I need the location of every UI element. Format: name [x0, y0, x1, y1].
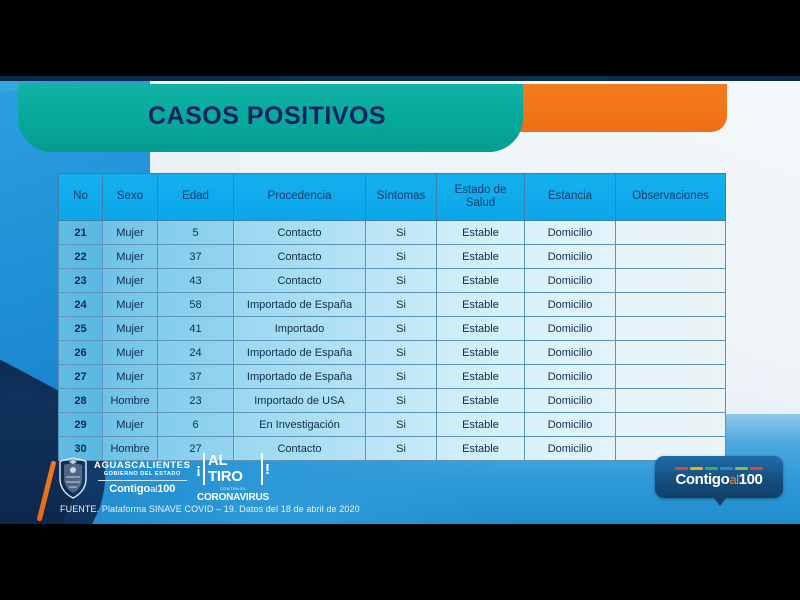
table-cell-estado-de-salud: Estable: [437, 341, 525, 365]
table-cell-no: 27: [59, 365, 103, 389]
table-cell-síntomas: Si: [366, 365, 437, 389]
table-cell-edad: 5: [158, 221, 234, 245]
table-cell-estancia: Domicilio: [525, 269, 616, 293]
table-cell-síntomas: Si: [366, 389, 437, 413]
table-cell-no: 23: [59, 269, 103, 293]
table-cell-observaciones: [616, 293, 726, 317]
header-orange-block: [505, 84, 727, 132]
table-cell-sexo: Mujer: [103, 245, 158, 269]
table-cell-estancia: Domicilio: [525, 389, 616, 413]
badge-color-bar: [735, 467, 748, 470]
badge-color-bar: [675, 467, 688, 470]
table-cell-síntomas: Si: [366, 317, 437, 341]
table-header-row: No Sexo Edad Procedencia Síntomas Estado…: [59, 174, 726, 221]
table-row: 22Mujer37ContactoSiEstableDomicilio: [59, 245, 726, 269]
coat-of-arms-icon: [58, 457, 88, 499]
badge-100-word: 100: [739, 471, 763, 488]
table-cell-estancia: Domicilio: [525, 413, 616, 437]
table-cell-síntomas: Si: [366, 437, 437, 461]
badge-color-bar: [750, 467, 763, 470]
table-cell-no: 25: [59, 317, 103, 341]
table-cell-edad: 41: [158, 317, 234, 341]
top-cyan-tab: [0, 81, 18, 91]
table-row: 24Mujer58Importado de EspañaSiEstableDom…: [59, 293, 726, 317]
table-cell-sexo: Mujer: [103, 221, 158, 245]
altiro-open-exclamation: ¡: [196, 461, 201, 478]
table-cell-síntomas: Si: [366, 413, 437, 437]
column-header-procedencia: Procedencia: [234, 174, 366, 221]
table-cell-estancia: Domicilio: [525, 365, 616, 389]
badge-color-bar: [720, 467, 733, 470]
altiro-word: AL TIRO: [203, 453, 263, 485]
aguascalientes-government-logo: AGUASCALIENTES GOBIERNO DEL ESTADO Conti…: [58, 454, 190, 502]
table-cell-estancia: Domicilio: [525, 293, 616, 317]
table-cell-síntomas: Si: [366, 221, 437, 245]
table-row: 26Mujer24Importado de EspañaSiEstableDom…: [59, 341, 726, 365]
table-cell-observaciones: [616, 269, 726, 293]
table-cell-edad: 23: [158, 389, 234, 413]
table-cell-observaciones: [616, 245, 726, 269]
table-cell-edad: 24: [158, 341, 234, 365]
presentation-slide: CASOS POSITIVOS No Sexo Edad Procedencia…: [0, 76, 800, 524]
column-header-edad: Edad: [158, 174, 234, 221]
table-cell-estancia: Domicilio: [525, 245, 616, 269]
table-row: 27Mujer37Importado de EspañaSiEstableDom…: [59, 365, 726, 389]
table-cell-sexo: Mujer: [103, 341, 158, 365]
table-cell-no: 22: [59, 245, 103, 269]
badge-al-word: al: [729, 472, 738, 487]
table-cell-procedencia: En Investigación: [234, 413, 366, 437]
table-cell-sexo: Mujer: [103, 365, 158, 389]
table-cell-observaciones: [616, 221, 726, 245]
badge-color-bar: [705, 467, 718, 470]
top-dark-strip: [0, 76, 800, 81]
table-cell-no: 29: [59, 413, 103, 437]
table-cell-sexo: Mujer: [103, 317, 158, 341]
table-cell-observaciones: [616, 341, 726, 365]
table-cell-procedencia: Contacto: [234, 221, 366, 245]
table-cell-estado-de-salud: Estable: [437, 437, 525, 461]
table-body: 21Mujer5ContactoSiEstableDomicilio22Muje…: [59, 221, 726, 461]
badge-label: Contigoal100: [675, 472, 762, 487]
table-cell-procedencia: Importado de España: [234, 341, 366, 365]
table-cell-estancia: Domicilio: [525, 437, 616, 461]
gob-line-contigo: Contigoal100: [109, 484, 175, 495]
column-header-estancia: Estancia: [525, 174, 616, 221]
altiro-top-row: ¡ AL TIRO !: [196, 453, 270, 485]
table-cell-edad: 37: [158, 365, 234, 389]
table-cell-síntomas: Si: [366, 245, 437, 269]
table-cell-procedencia: Importado de USA: [234, 389, 366, 413]
gob-line-gobierno: GOBIERNO DEL ESTADO: [104, 472, 181, 478]
altiro-subtitle: CONTRA EL: [220, 486, 246, 491]
table-cell-procedencia: Contacto: [234, 269, 366, 293]
table-cell-no: 24: [59, 293, 103, 317]
table-row: 29Mujer6En InvestigaciónSiEstableDomicil…: [59, 413, 726, 437]
table-cell-estado-de-salud: Estable: [437, 221, 525, 245]
table-cell-síntomas: Si: [366, 293, 437, 317]
contigo-al-100-badge: Contigoal100: [655, 456, 783, 498]
cases-table-container: No Sexo Edad Procedencia Síntomas Estado…: [58, 173, 725, 461]
altiro-close-exclamation: !: [265, 461, 270, 478]
table-cell-sexo: Mujer: [103, 293, 158, 317]
table-cell-procedencia: Contacto: [234, 245, 366, 269]
gob-100-word: 100: [157, 483, 175, 495]
gob-contigo-word: Contigo: [109, 483, 150, 495]
column-header-sintomas: Síntomas: [366, 174, 437, 221]
table-cell-procedencia: Importado: [234, 317, 366, 341]
table-cell-estado-de-salud: Estable: [437, 413, 525, 437]
table-cell-sexo: Mujer: [103, 413, 158, 437]
table-row: 25Mujer41ImportadoSiEstableDomicilio: [59, 317, 726, 341]
table-cell-observaciones: [616, 365, 726, 389]
table-cell-estado-de-salud: Estable: [437, 365, 525, 389]
table-cell-estancia: Domicilio: [525, 221, 616, 245]
screenshot-canvas: CASOS POSITIVOS No Sexo Edad Procedencia…: [0, 0, 800, 600]
table-cell-procedencia: Importado de España: [234, 293, 366, 317]
table-cell-estado-de-salud: Estable: [437, 317, 525, 341]
page-title: CASOS POSITIVOS: [148, 102, 386, 131]
altiro-campaign-logo: ¡ AL TIRO ! CONTRA EL CORONAVIRUS: [196, 454, 270, 502]
table-cell-edad: 58: [158, 293, 234, 317]
table-cell-estado-de-salud: Estable: [437, 245, 525, 269]
gob-divider: [98, 480, 187, 481]
government-logo-text: AGUASCALIENTES GOBIERNO DEL ESTADO Conti…: [94, 461, 191, 494]
table-cell-síntomas: Si: [366, 341, 437, 365]
table-cell-edad: 43: [158, 269, 234, 293]
table-cell-estado-de-salud: Estable: [437, 293, 525, 317]
table-cell-estado-de-salud: Estable: [437, 389, 525, 413]
column-header-sexo: Sexo: [103, 174, 158, 221]
table-cell-observaciones: [616, 413, 726, 437]
table-row: 28Hombre23Importado de USASiEstableDomic…: [59, 389, 726, 413]
column-header-estado-de-salud: Estado de Salud: [437, 174, 525, 221]
table-cell-observaciones: [616, 317, 726, 341]
table-cell-sexo: Hombre: [103, 389, 158, 413]
table-cell-edad: 37: [158, 245, 234, 269]
table-cell-procedencia: Importado de España: [234, 365, 366, 389]
table-cell-no: 21: [59, 221, 103, 245]
table-row: 21Mujer5ContactoSiEstableDomicilio: [59, 221, 726, 245]
cases-table: No Sexo Edad Procedencia Síntomas Estado…: [58, 173, 726, 461]
badge-contigo-word: Contigo: [675, 471, 729, 488]
badge-color-bar: [690, 467, 703, 470]
table-cell-no: 26: [59, 341, 103, 365]
table-cell-estancia: Domicilio: [525, 317, 616, 341]
table-cell-no: 28: [59, 389, 103, 413]
table-cell-estado-de-salud: Estable: [437, 269, 525, 293]
source-note: FUENTE. Plataforma SINAVE COVID – 19. Da…: [60, 504, 360, 514]
table-cell-estancia: Domicilio: [525, 341, 616, 365]
table-cell-síntomas: Si: [366, 269, 437, 293]
altiro-coronavirus-word: CORONAVIRUS: [197, 492, 269, 503]
table-row: 23Mujer43ContactoSiEstableDomicilio: [59, 269, 726, 293]
column-header-no: No: [59, 174, 103, 221]
badge-color-bars: [675, 467, 763, 470]
table-cell-observaciones: [616, 389, 726, 413]
table-cell-edad: 6: [158, 413, 234, 437]
column-header-observaciones: Observaciones: [616, 174, 726, 221]
table-cell-sexo: Mujer: [103, 269, 158, 293]
gob-line-aguascalientes: AGUASCALIENTES: [94, 461, 191, 471]
